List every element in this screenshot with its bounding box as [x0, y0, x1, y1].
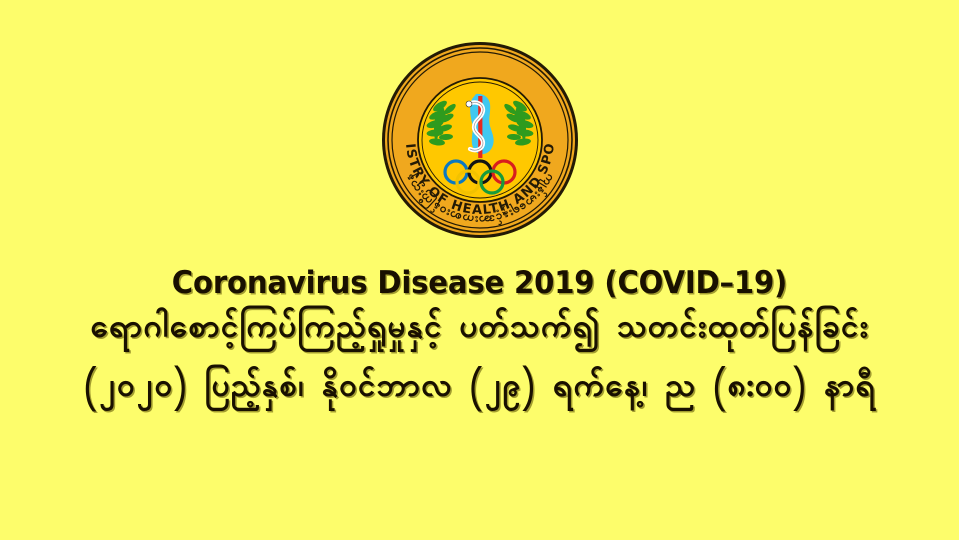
ministry-emblem: ကျန်းမာရေးနှင့်အားကစားဝန်ကြီးဌာန MINISTR… — [380, 40, 580, 240]
serpent-head — [466, 101, 472, 107]
announcement-subtitle-burmese: ရောဂါစောင့်ကြပ်ကြည့်ရှုမှုနှင့် ပတ်သက်၍ … — [0, 313, 959, 346]
covid-announcement-slide: ကျန်းမာရေးနှင့်အားကစားဝန်ကြီးဌာန MINISTR… — [0, 0, 959, 540]
announcement-text-block: Coronavirus Disease 2019 (COVID–19) ရောဂ… — [0, 268, 959, 405]
page-title-english: Coronavirus Disease 2019 (COVID–19) — [29, 268, 930, 299]
ministry-seal-icon: ကျန်းမာရေးနှင့်အားကစားဝန်ကြီးဌာန MINISTR… — [380, 40, 580, 240]
announcement-datetime-burmese: (၂၀၂၀) ပြည့်နှစ်၊ နိုဝင်ဘာလ (၂၉) ရက်နေ့၊… — [0, 372, 959, 405]
